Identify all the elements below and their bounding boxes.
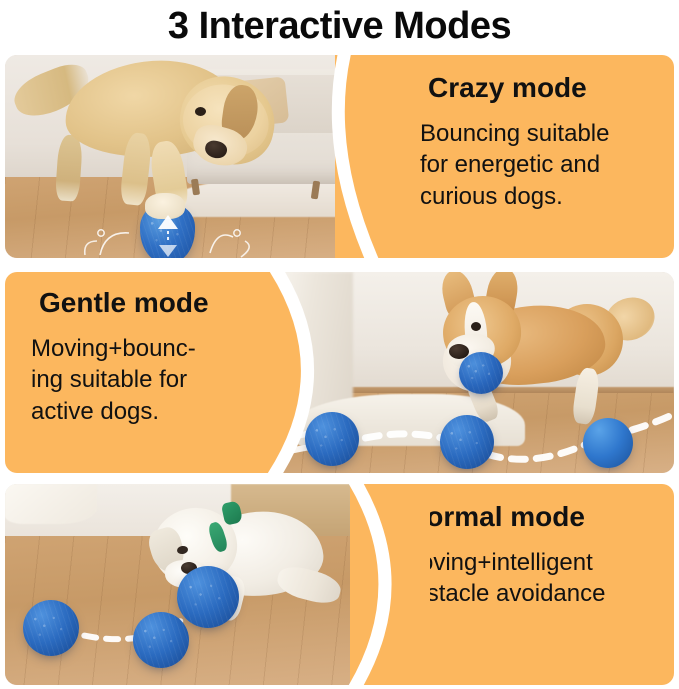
mode-body-line: obstacle avoidance: [400, 578, 665, 610]
ball-texture: [133, 612, 189, 668]
photo-gentle-mode: [275, 272, 674, 473]
ball-texture: [177, 566, 239, 628]
interactive-ball: [459, 352, 503, 394]
mode-card-normal: Normal mode Moving+intelligent obstacle …: [5, 484, 674, 685]
mode-text-gentle: Gentle mode Moving+bounc- ing suitable f…: [31, 288, 276, 428]
text-panel-crazy-mode: Crazy mode Bouncing suitable for energet…: [335, 55, 674, 258]
mode-body-gentle: Moving+bounc- ing suitable for active do…: [31, 333, 276, 428]
mode-heading-normal: Normal mode: [400, 502, 665, 533]
mode-body-line: Moving+bounc-: [31, 333, 276, 365]
mode-body-normal: Moving+intelligent obstacle avoidance: [400, 547, 665, 610]
interactive-ball: [440, 415, 494, 469]
mode-text-crazy: Crazy mode Bouncing suitable for energet…: [420, 73, 670, 213]
mode-heading-crazy: Crazy mode: [420, 73, 670, 104]
page-title-bar: 3 Interactive Modes: [0, 0, 679, 52]
ball-texture: [459, 352, 503, 394]
interactive-ball: [23, 600, 79, 656]
mode-heading-gentle: Gentle mode: [31, 288, 276, 319]
mode-body-line: Bouncing suitable: [420, 118, 670, 150]
lace-curtain: [5, 484, 97, 524]
mode-body-crazy: Bouncing suitable for energetic and curi…: [420, 118, 670, 213]
mode-text-normal: Normal mode Moving+intelligent obstacle …: [400, 502, 665, 610]
interactive-ball: [583, 418, 633, 468]
dog-eye: [471, 322, 481, 331]
ball-texture: [23, 600, 79, 656]
mode-card-crazy: Crazy mode Bouncing suitable for energet…: [5, 55, 674, 258]
mode-card-gentle: Gentle mode Moving+bounc- ing suitable f…: [5, 272, 674, 473]
mode-body-line: Moving+intelligent: [400, 547, 665, 579]
interactive-ball: [133, 612, 189, 668]
text-panel-normal-mode: Normal mode Moving+intelligent obstacle …: [350, 484, 674, 685]
mode-body-line: active dogs.: [31, 396, 276, 428]
ball-texture: [440, 415, 494, 469]
dog-eye: [195, 107, 206, 116]
photo-normal-mode: [5, 484, 405, 685]
mode-body-line: ing suitable for: [31, 364, 276, 396]
interactive-ball: [177, 566, 239, 628]
ball-texture: [305, 412, 359, 466]
mode-body-line: curious dogs.: [420, 181, 670, 213]
dog-paw: [145, 193, 185, 219]
page-title: 3 Interactive Modes: [168, 7, 511, 45]
interactive-ball: [305, 412, 359, 466]
mode-body-line: for energetic and: [420, 149, 670, 181]
